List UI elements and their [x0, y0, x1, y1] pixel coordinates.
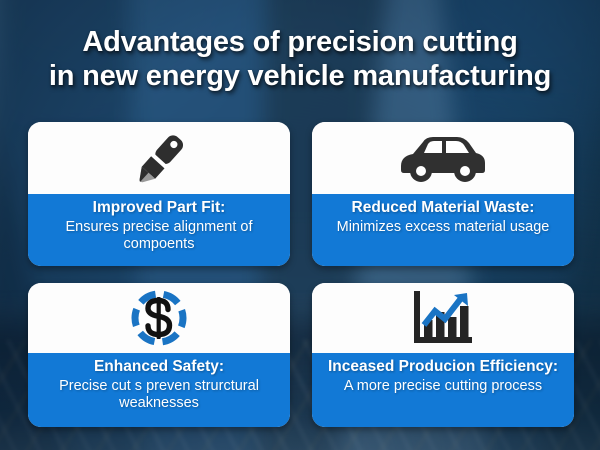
card-description: A more precise cutting process [320, 378, 566, 395]
infographic-canvas: Advantages of precision cutting in new e… [0, 0, 600, 450]
card-description: Ensures precise alignment of compoents [36, 219, 282, 254]
dollar-coin-icon [128, 287, 190, 349]
card-label-band: Enhanced Safety: Precise cut s preven st… [28, 353, 290, 427]
bar-chart-growth-icon [410, 287, 476, 349]
page-title: Advantages of precision cutting in new e… [0, 26, 600, 93]
benefit-card-grid: Improved Part Fit: Ensures precise align… [28, 122, 574, 427]
card-title: Enhanced Safety: [36, 358, 282, 377]
benefit-card-improved-part-fit[interactable]: Improved Part Fit: Ensures precise align… [28, 122, 290, 266]
benefit-card-reduced-material-waste[interactable]: Reduced Material Waste: Minimizes excess… [312, 122, 574, 266]
card-label-band: Improved Part Fit: Ensures precise align… [28, 194, 290, 266]
card-description: Minimizes excess material usage [320, 219, 566, 236]
car-icon [397, 130, 489, 186]
card-title: Reduced Material Waste: [320, 199, 566, 218]
card-label-band: Inceased Producion Efficiency: A more pr… [312, 353, 574, 427]
card-icon-area [312, 122, 574, 194]
cutting-blade-icon [127, 127, 191, 189]
card-icon-area [312, 283, 574, 353]
card-description: Precise cut s preven strurctural weaknes… [36, 378, 282, 413]
page-title-line-2: in new energy vehicle manufacturing [14, 60, 586, 94]
benefit-card-enhanced-safety[interactable]: Enhanced Safety: Precise cut s preven st… [28, 283, 290, 427]
card-title: Inceased Producion Efficiency: [320, 358, 566, 377]
card-label-band: Reduced Material Waste: Minimizes excess… [312, 194, 574, 266]
card-icon-area [28, 283, 290, 353]
benefit-card-increased-production-efficiency[interactable]: Inceased Producion Efficiency: A more pr… [312, 283, 574, 427]
card-icon-area [28, 122, 290, 194]
card-title: Improved Part Fit: [36, 199, 282, 218]
page-title-line-1: Advantages of precision cutting [14, 26, 586, 60]
